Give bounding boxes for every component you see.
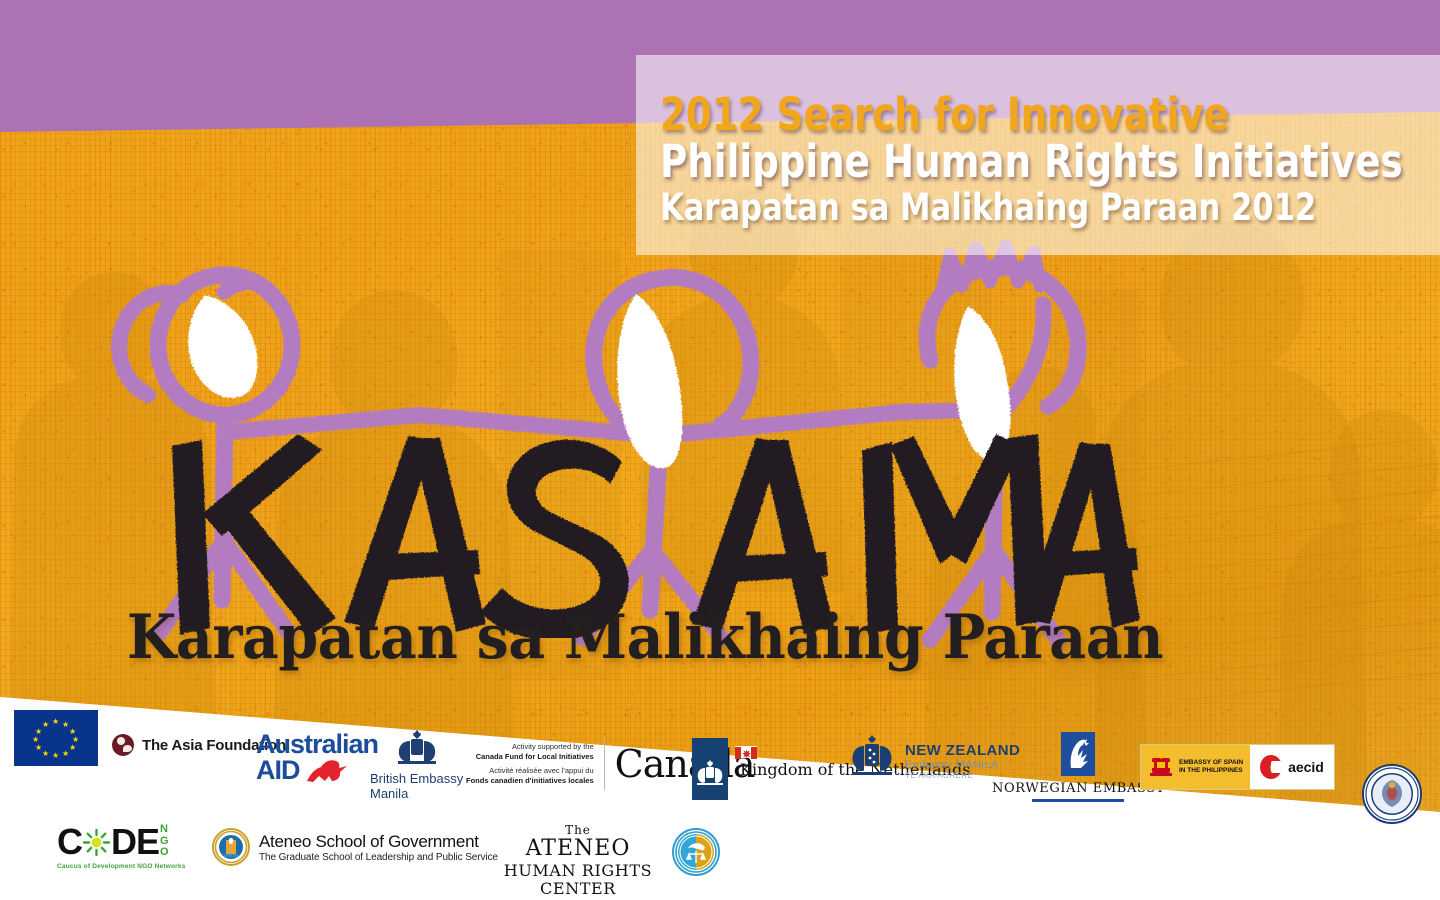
logo-australian-aid: Australian AID xyxy=(256,732,378,783)
australian-aid-label-line2: AID xyxy=(256,758,300,783)
spain-left-panel: EMBASSY OF SPAIN IN THE PHILIPPINES xyxy=(1141,745,1250,789)
aecid-c-icon xyxy=(1260,755,1282,779)
code-ngo-ngo-label: NGO xyxy=(160,824,169,859)
asia-foundation-mark-icon xyxy=(112,734,134,756)
aecid-panel: aecid xyxy=(1250,745,1334,789)
us-embassy-seal-icon xyxy=(1362,764,1422,824)
ahrc-label-line4: CENTER xyxy=(498,880,658,898)
spain-label-line2: IN THE PHILIPPINES xyxy=(1179,767,1243,775)
logo-european-union: ★ ★ ★ ★ ★ ★ ★ ★ ★ ★ ★ ★ xyxy=(14,710,98,766)
asog-label-line2: The Graduate School of Leadership and Pu… xyxy=(259,852,498,863)
title-line-3: Karapatan sa Malikhaing Paraan 2012 xyxy=(660,189,1387,226)
british-embassy-label-line2: Manila xyxy=(370,787,463,802)
logo-embassy-of-spain-aecid: EMBASSY OF SPAIN IN THE PHILIPPINES aeci… xyxy=(1140,744,1335,790)
poster-banner: Karapatan sa Malikhaing Paraan 2012 Sear… xyxy=(0,0,1440,900)
logo-code-ngo: C xyxy=(57,824,186,870)
ahrc-label-line2: ATENEO xyxy=(498,837,658,862)
kasama-tagline: Karapatan sa Malikhaing Paraan xyxy=(0,602,1290,673)
title-line-2: Philippine Human Rights Initiatives xyxy=(660,139,1387,184)
logo-norwegian-embassy: NORWEGIAN EMBASSY xyxy=(992,732,1165,802)
chr-seal-icon xyxy=(672,828,720,876)
canada-fund-fr-line1: Activité réalisée avec l'appui du xyxy=(466,766,594,776)
netherlands-crest-icon xyxy=(692,738,728,800)
logo-embassy-of-the-united-states xyxy=(1362,764,1422,824)
canada-fund-en-line1: Activity supported by the xyxy=(466,742,594,752)
spain-coat-of-arms-icon xyxy=(1148,750,1174,785)
code-ngo-wordmark-de: DE xyxy=(111,824,159,860)
nz-coat-of-arms-icon xyxy=(848,732,896,789)
logo-commission-on-human-rights-seal xyxy=(672,828,720,876)
title-line-1: 2012 Search for Innovative xyxy=(660,92,1387,137)
asog-label-line1: Ateneo School of Government xyxy=(259,832,498,852)
royal-coat-of-arms-icon xyxy=(392,728,442,768)
sponsor-logo-strip: ★ ★ ★ ★ ★ ★ ★ ★ ★ ★ ★ ★ The Asia Foundat… xyxy=(0,700,1440,900)
code-ngo-wordmark-c: C xyxy=(57,824,82,860)
australian-aid-label-line1: Australian xyxy=(256,732,378,757)
kangaroo-icon xyxy=(303,757,349,783)
code-ngo-subtitle: Caucus of Development NGO Networks xyxy=(57,863,186,870)
title-text-block: 2012 Search for Innovative Philippine Hu… xyxy=(660,92,1440,226)
aecid-label: aecid xyxy=(1288,759,1324,775)
eu-flag-icon: ★ ★ ★ ★ ★ ★ ★ ★ ★ ★ ★ ★ xyxy=(14,710,98,766)
norwegian-embassy-label: NORWEGIAN EMBASSY xyxy=(992,781,1165,796)
logo-british-embassy-manila: British Embassy Manila xyxy=(370,728,463,802)
ahrc-label-line3: HUMAN RIGHTS xyxy=(498,862,658,880)
norway-rule xyxy=(1032,799,1124,802)
canada-fund-fr-line2: Fonds canadien d'initiatives locales xyxy=(466,776,594,786)
ahrc-label-line1: The xyxy=(498,824,658,837)
logo-ateneo-school-of-government: Ateneo School of Government The Graduate… xyxy=(212,828,498,866)
british-embassy-label-line1: British Embassy xyxy=(370,772,463,787)
norway-lion-icon xyxy=(1061,732,1095,776)
logo-ateneo-human-rights-center: The ATENEO HUMAN RIGHTS CENTER xyxy=(498,824,658,898)
code-ngo-sunburst-icon xyxy=(83,829,110,861)
ateneo-seal-icon xyxy=(212,828,250,866)
spain-aecid-box: EMBASSY OF SPAIN IN THE PHILIPPINES aeci… xyxy=(1140,744,1335,790)
spain-label-line1: EMBASSY OF SPAIN xyxy=(1179,759,1243,767)
canada-fund-en-line2: Canada Fund for Local Initiatives xyxy=(466,752,594,762)
